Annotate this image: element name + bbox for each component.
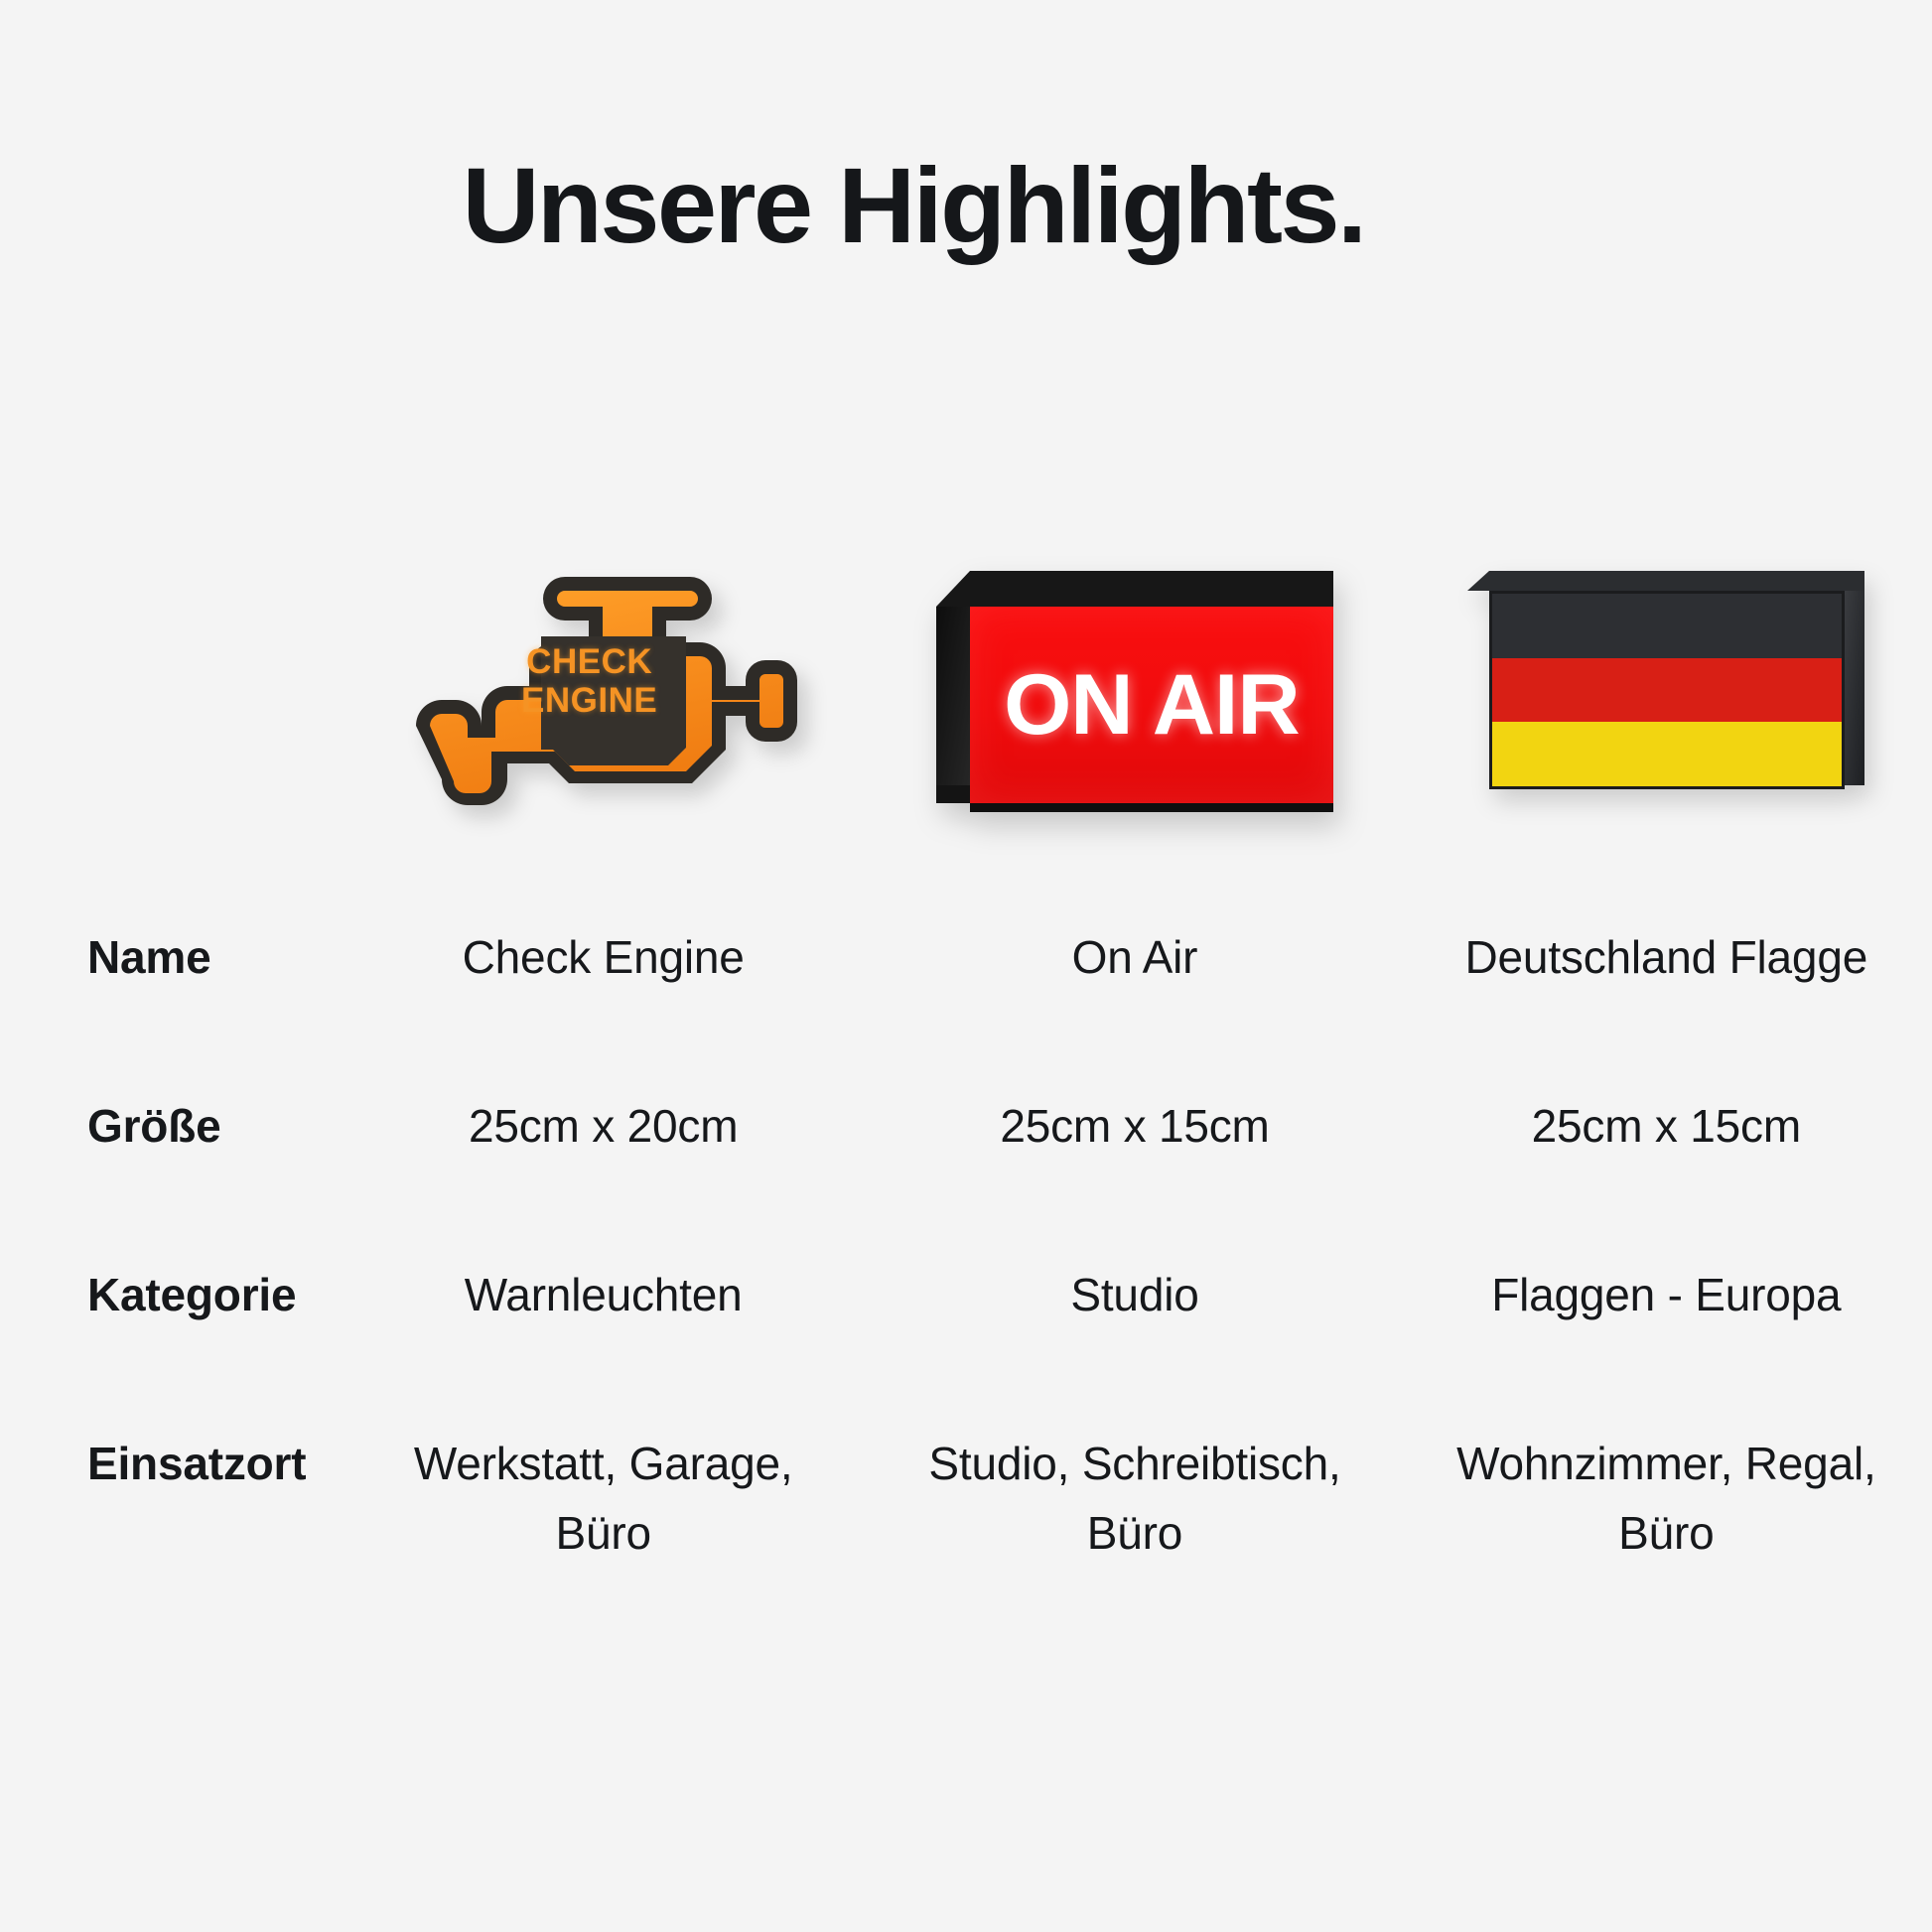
product-image-row: CHECK ENGINE ON AIR	[0, 536, 1932, 854]
row-label-name: Name	[0, 923, 338, 1092]
spec-table: Name Check Engine On Air Deutschland Fla…	[0, 923, 1932, 1638]
cell-name-on-air: On Air	[869, 923, 1400, 1092]
cell-text: Deutschland Flagge	[1465, 923, 1868, 993]
row-label-kategorie: Kategorie	[0, 1261, 338, 1430]
on-air-top-edge	[936, 571, 1333, 607]
cell-text: Studio	[1070, 1261, 1198, 1330]
cell-text: Studio, Schreibtisch, Büro	[921, 1430, 1348, 1569]
flag-face	[1489, 591, 1845, 789]
flag-side-edge	[1845, 591, 1864, 785]
highlights-page: Unsere Highlights.	[0, 0, 1932, 1932]
on-air-side-edge	[936, 607, 970, 785]
row-label-einsatzort: Einsatzort	[0, 1430, 338, 1638]
product-image-deutschland-flagge[interactable]	[1401, 536, 1932, 854]
cell-text: Check Engine	[463, 923, 745, 993]
check-engine-lamp-icon: CHECK ENGINE	[390, 551, 817, 839]
cell-name-flagge: Deutschland Flagge	[1401, 923, 1932, 1092]
cell-text: 25cm x 15cm	[1000, 1092, 1269, 1162]
cell-name-check-engine: Check Engine	[338, 923, 869, 1092]
page-title: Unsere Highlights.	[0, 149, 1932, 261]
on-air-bottom-edge	[970, 803, 1333, 812]
cell-text: Flaggen - Europa	[1491, 1261, 1841, 1330]
on-air-text: ON AIR	[1004, 656, 1300, 755]
cell-einsatzort-flagge: Wohnzimmer, Regal, Büro	[1401, 1430, 1932, 1638]
product-image-on-air[interactable]: ON AIR	[869, 536, 1400, 854]
cell-einsatzort-on-air: Studio, Schreibtisch, Büro	[869, 1430, 1400, 1638]
germany-flag-lightbox	[1467, 571, 1864, 819]
on-air-lightbox: ON AIR	[936, 571, 1333, 819]
on-air-face: ON AIR	[970, 607, 1333, 803]
cell-text: 25cm x 15cm	[1532, 1092, 1801, 1162]
row-label-groesse: Größe	[0, 1092, 338, 1261]
cell-einsatzort-check-engine: Werkstatt, Garage, Büro	[338, 1430, 869, 1638]
cell-groesse-flagge: 25cm x 15cm	[1401, 1092, 1932, 1261]
cell-groesse-on-air: 25cm x 15cm	[869, 1092, 1400, 1261]
cell-kategorie-flagge: Flaggen - Europa	[1401, 1261, 1932, 1430]
cell-text: On Air	[1072, 923, 1198, 993]
cell-groesse-check-engine: 25cm x 20cm	[338, 1092, 869, 1261]
flag-band-black	[1492, 594, 1842, 658]
product-image-check-engine[interactable]: CHECK ENGINE	[338, 536, 869, 854]
cell-text: Wohnzimmer, Regal, Büro	[1452, 1430, 1879, 1569]
flag-top-edge	[1467, 571, 1864, 591]
cell-text: Warnleuchten	[465, 1261, 743, 1330]
cell-kategorie-on-air: Studio	[869, 1261, 1400, 1430]
cell-text: Werkstatt, Garage, Büro	[390, 1430, 817, 1569]
cell-kategorie-check-engine: Warnleuchten	[338, 1261, 869, 1430]
flag-band-red	[1492, 658, 1842, 723]
flag-band-gold	[1492, 722, 1842, 786]
cell-text: 25cm x 20cm	[469, 1092, 738, 1162]
product-image-spacer	[0, 536, 338, 854]
